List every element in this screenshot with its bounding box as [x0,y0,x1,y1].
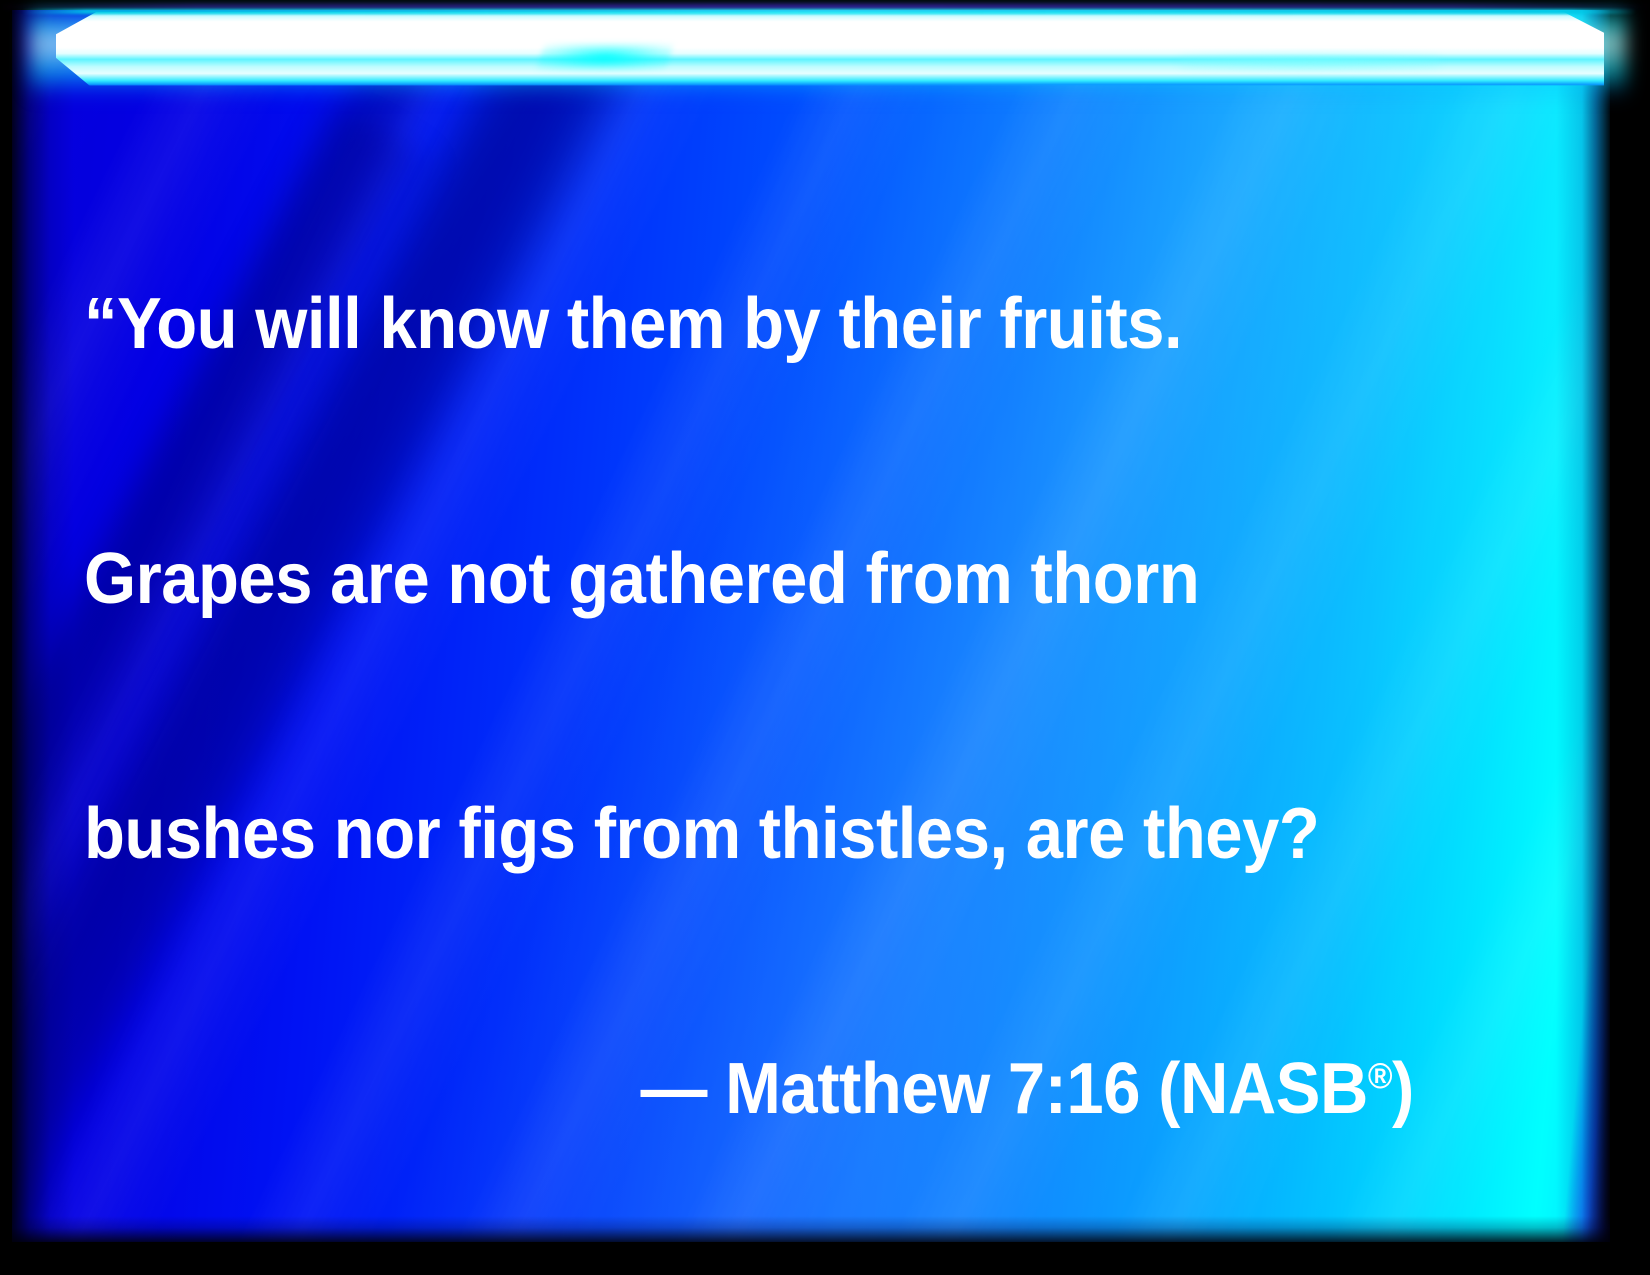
attribution-reference: Matthew 7:16 [725,1049,1140,1129]
attribution-dash: — [640,1049,706,1129]
verse-line-3: bushes nor figs from thistles, are they? [84,792,1414,877]
registered-trademark-icon: ® [1368,1055,1392,1096]
verse-text-block: “You will know them by their fruits. Gra… [84,112,1414,1275]
left-edge-shadow [12,10,74,1242]
scripture-slide: “You will know them by their fruits. Gra… [0,0,1650,1275]
right-edge-shadow [1556,10,1610,1242]
attribution-translation-close: ) [1392,1049,1414,1129]
verse-line-2: Grapes are not gathered from thorn [84,537,1414,622]
attribution-translation-open: (NASB [1158,1049,1368,1129]
verse-line-1: “You will know them by their fruits. [84,282,1414,367]
verse-attribution: — Matthew 7:16 (NASB®) [84,1047,1414,1132]
